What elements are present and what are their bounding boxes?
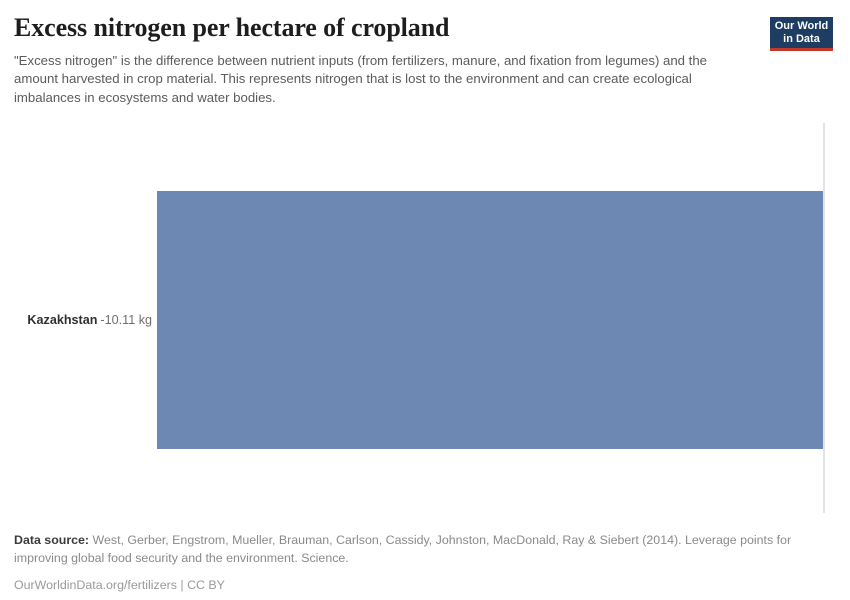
page-title: Excess nitrogen per hectare of cropland bbox=[14, 12, 754, 44]
logo-line-1: Our World bbox=[770, 20, 833, 33]
chart-header: Excess nitrogen per hectare of cropland … bbox=[0, 0, 850, 118]
entity-name: Kazakhstan bbox=[27, 313, 97, 327]
our-world-in-data-logo[interactable]: Our World in Data bbox=[770, 17, 833, 51]
bar-chart-row: Kazakhstan-10.11 kg bbox=[0, 191, 850, 449]
data-source-label: Data source: bbox=[14, 533, 89, 547]
bar-kazakhstan[interactable] bbox=[157, 191, 823, 449]
chart-subtitle: "Excess nitrogen" is the difference betw… bbox=[14, 52, 750, 107]
chart-footer: Data source: West, Gerber, Engstrom, Mue… bbox=[14, 532, 804, 593]
data-source-text: West, Gerber, Engstrom, Mueller, Brauman… bbox=[14, 533, 791, 565]
bar-chart: Kazakhstan-10.11 kg bbox=[0, 118, 850, 518]
data-source-line: Data source: West, Gerber, Engstrom, Mue… bbox=[14, 532, 794, 567]
logo-line-2: in Data bbox=[770, 33, 833, 46]
bar-row-label: Kazakhstan-10.11 kg bbox=[27, 313, 152, 328]
owid-url-license[interactable]: OurWorldinData.org/fertilizers | CC BY bbox=[14, 577, 804, 593]
bar-value-label: -10.11 kg bbox=[100, 313, 152, 327]
